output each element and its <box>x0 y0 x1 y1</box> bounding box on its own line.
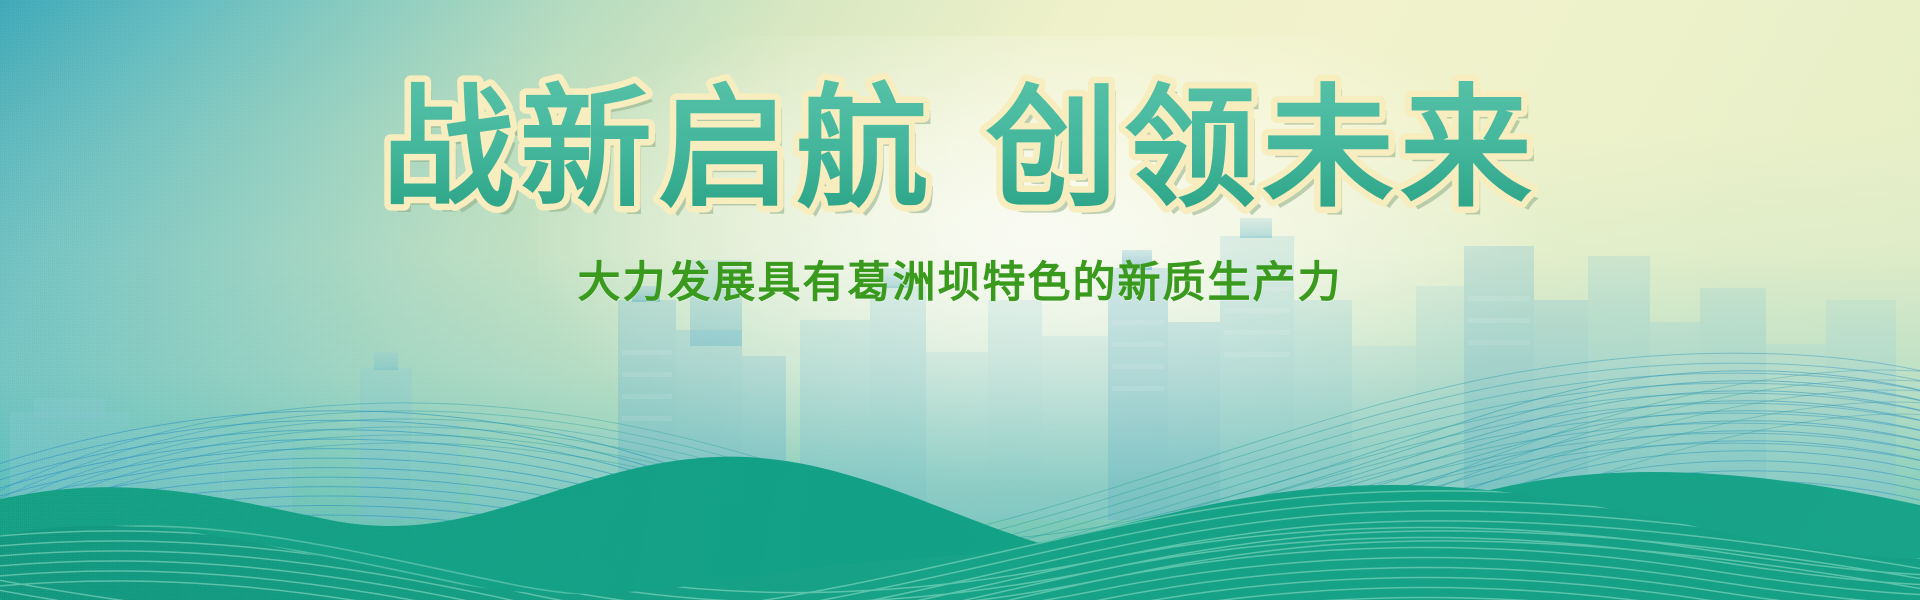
headline-block: 战新启航 创领未来 战新启航 创领未来 战新启航 创领未来 <box>0 62 1920 232</box>
headline-title-text: 战新启航 创领未来 <box>382 72 1538 226</box>
banner-content: 战新启航 创领未来 战新启航 创领未来 战新启航 创领未来 大力发展具有葛洲坝特… <box>0 0 1920 600</box>
subtitle-text: 大力发展具有葛洲坝特色的新质生产力 <box>578 248 1343 310</box>
headline-title: 战新启航 创领未来 战新启航 创领未来 战新启航 创领未来 <box>340 62 1580 232</box>
promotional-banner: 战新启航 创领未来 战新启航 创领未来 战新启航 创领未来 大力发展具有葛洲坝特… <box>0 0 1920 600</box>
subtitle-block: 大力发展具有葛洲坝特色的新质生产力 <box>0 248 1920 310</box>
